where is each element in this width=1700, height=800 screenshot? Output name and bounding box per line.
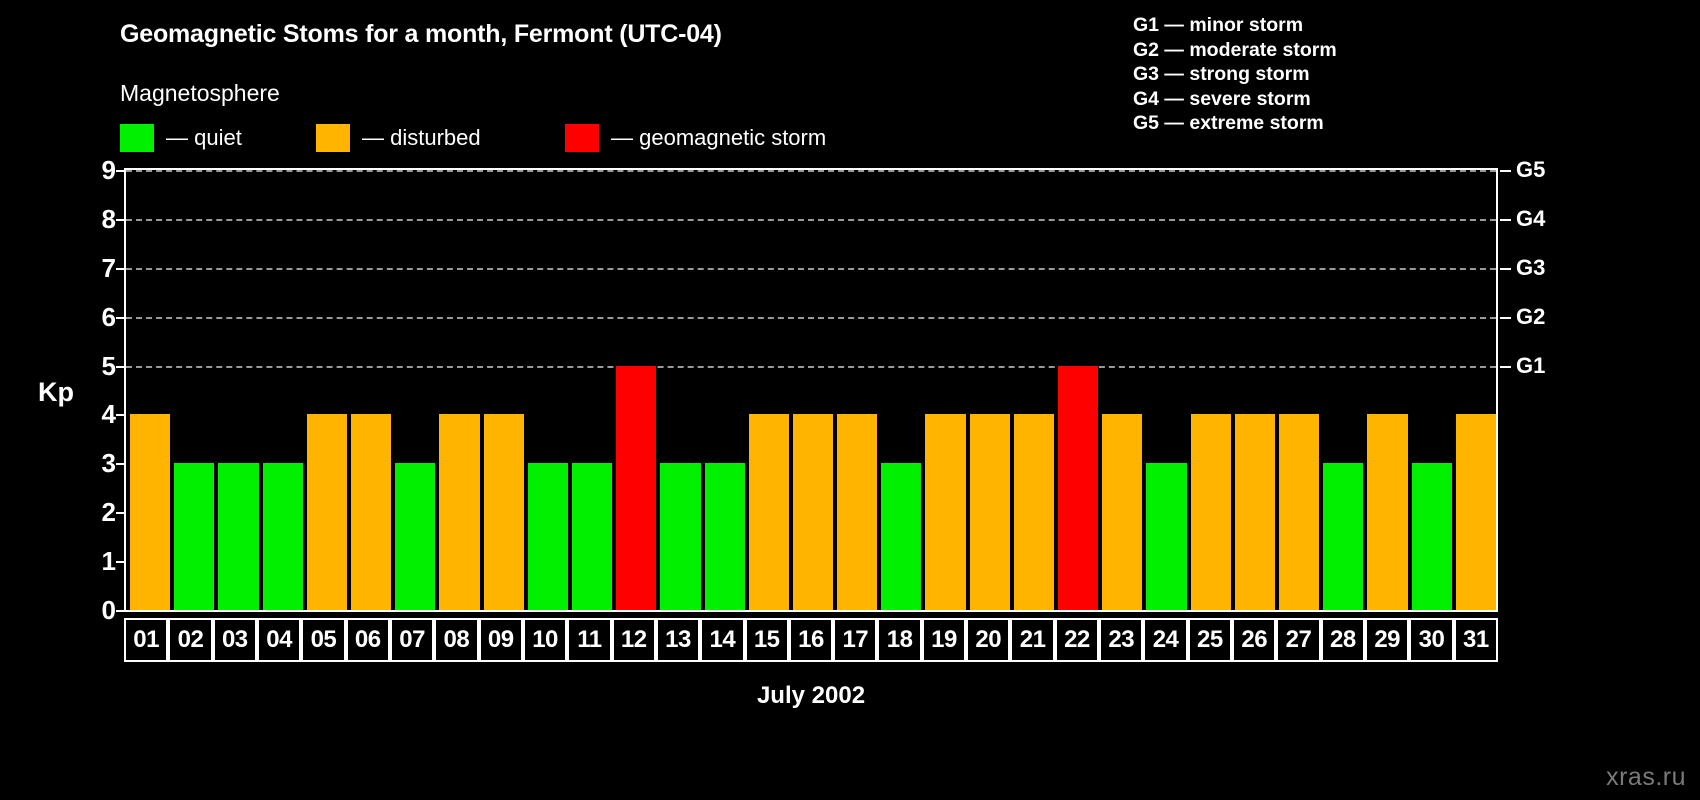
- bar-day-04[interactable]: [263, 463, 303, 610]
- day-label-15[interactable]: 15: [745, 618, 789, 662]
- plot-inner: [126, 170, 1496, 610]
- bar-day-20[interactable]: [970, 414, 1010, 610]
- x-axis-day-labels: 0102030405060708091011121314151617181920…: [124, 618, 1498, 662]
- bar-day-22[interactable]: [1058, 366, 1098, 610]
- bar-slot: [925, 170, 965, 610]
- bar-slot: [1279, 170, 1319, 610]
- day-label-20[interactable]: 20: [966, 618, 1010, 662]
- day-label-29[interactable]: 29: [1365, 618, 1409, 662]
- bar-slot: [1456, 170, 1496, 610]
- bar-slot: [881, 170, 921, 610]
- g-scale-axis: G5G4G3G2G1: [1500, 168, 1610, 612]
- bar-day-02[interactable]: [174, 463, 214, 610]
- day-label-02[interactable]: 02: [168, 618, 212, 662]
- bar-slot: [174, 170, 214, 610]
- y-tick-label: 5: [76, 353, 116, 379]
- bar-slot: [1235, 170, 1275, 610]
- day-label-21[interactable]: 21: [1010, 618, 1054, 662]
- bar-slot: [1102, 170, 1142, 610]
- bar-slot: [660, 170, 700, 610]
- bar-slot: [1014, 170, 1054, 610]
- day-label-08[interactable]: 08: [434, 618, 478, 662]
- bar-slot: [1146, 170, 1186, 610]
- legend-swatch-icon: [120, 124, 154, 152]
- bar-slot: [439, 170, 479, 610]
- day-label-30[interactable]: 30: [1409, 618, 1453, 662]
- page-title: Geomagnetic Stoms for a month, Fermont (…: [120, 20, 722, 49]
- bar-day-19[interactable]: [925, 414, 965, 610]
- y-tick-label: 3: [76, 450, 116, 476]
- bar-day-03[interactable]: [218, 463, 258, 610]
- day-label-31[interactable]: 31: [1454, 618, 1498, 662]
- geomagnetic-storm-chart: Geomagnetic Stoms for a month, Fermont (…: [0, 0, 1700, 800]
- bar-slot: [1323, 170, 1363, 610]
- bar-slot: [572, 170, 612, 610]
- bar-slot: [1058, 170, 1098, 610]
- bar-slot: [351, 170, 391, 610]
- g-tick-label-G1: G1: [1516, 355, 1545, 377]
- bar-day-13[interactable]: [660, 463, 700, 610]
- g-scale-key-line: G2 — moderate storm: [1133, 38, 1337, 63]
- bar-slot: [528, 170, 568, 610]
- bar-day-24[interactable]: [1146, 463, 1186, 610]
- bar-slot: [484, 170, 524, 610]
- g-tick-mark: [1500, 219, 1511, 221]
- bar-slot: [705, 170, 745, 610]
- bar-day-14[interactable]: [705, 463, 745, 610]
- bar-day-31[interactable]: [1456, 414, 1496, 610]
- g-scale-key-line: G4 — severe storm: [1133, 87, 1337, 112]
- bar-day-08[interactable]: [439, 414, 479, 610]
- legend-swatch-icon: [316, 124, 350, 152]
- day-label-01[interactable]: 01: [124, 618, 168, 662]
- g-tick-label-G3: G3: [1516, 257, 1545, 279]
- x-axis-title: July 2002: [124, 682, 1498, 710]
- legend-swatch-icon: [565, 124, 599, 152]
- bar-slot: [1367, 170, 1407, 610]
- day-label-06[interactable]: 06: [346, 618, 390, 662]
- day-label-03[interactable]: 03: [213, 618, 257, 662]
- day-label-07[interactable]: 07: [390, 618, 434, 662]
- bar-day-29[interactable]: [1367, 414, 1407, 610]
- g-tick-mark: [1500, 170, 1511, 172]
- day-label-14[interactable]: 14: [700, 618, 744, 662]
- day-label-25[interactable]: 25: [1188, 618, 1232, 662]
- bar-day-06[interactable]: [351, 414, 391, 610]
- day-label-12[interactable]: 12: [612, 618, 656, 662]
- bar-day-01[interactable]: [130, 414, 170, 610]
- bar-day-26[interactable]: [1235, 414, 1275, 610]
- day-label-04[interactable]: 04: [257, 618, 301, 662]
- bar-day-05[interactable]: [307, 414, 347, 610]
- g-tick-mark: [1500, 366, 1511, 368]
- day-label-22[interactable]: 22: [1055, 618, 1099, 662]
- bar-day-07[interactable]: [395, 463, 435, 610]
- day-label-19[interactable]: 19: [922, 618, 966, 662]
- legend-entry-2: — geomagnetic storm: [565, 124, 826, 152]
- bar-slot: [749, 170, 789, 610]
- y-tick-label: 6: [76, 304, 116, 330]
- bar-slot: [616, 170, 656, 610]
- y-tick-label: 0: [76, 597, 116, 623]
- bar-slot: [1191, 170, 1231, 610]
- day-label-24[interactable]: 24: [1143, 618, 1187, 662]
- legend-label: — disturbed: [362, 125, 481, 151]
- y-tick-label: 1: [76, 548, 116, 574]
- bar-day-10[interactable]: [528, 463, 568, 610]
- bar-slot: [970, 170, 1010, 610]
- y-tick-label: 4: [76, 401, 116, 427]
- legend-entry-1: — disturbed: [316, 124, 481, 152]
- bar-slot: [218, 170, 258, 610]
- bar-day-11[interactable]: [572, 463, 612, 610]
- bar-slot: [307, 170, 347, 610]
- day-label-11[interactable]: 11: [567, 618, 611, 662]
- day-label-28[interactable]: 28: [1321, 618, 1365, 662]
- day-label-26[interactable]: 26: [1232, 618, 1276, 662]
- day-label-13[interactable]: 13: [656, 618, 700, 662]
- g-scale-key-line: G5 — extreme storm: [1133, 111, 1337, 136]
- bar-slot: [130, 170, 170, 610]
- day-label-23[interactable]: 23: [1099, 618, 1143, 662]
- day-label-10[interactable]: 10: [523, 618, 567, 662]
- bar-day-16[interactable]: [793, 414, 833, 610]
- g-scale-key-line: G1 — minor storm: [1133, 13, 1337, 38]
- plot-area: [124, 168, 1498, 612]
- bar-slot: [1412, 170, 1452, 610]
- y-tick-label: 2: [76, 499, 116, 525]
- bar-slot: [793, 170, 833, 610]
- g-tick-mark: [1500, 268, 1511, 270]
- bar-day-12[interactable]: [616, 366, 656, 610]
- y-tick-label: 7: [76, 255, 116, 281]
- legend-label: — quiet: [166, 125, 242, 151]
- legend-heading: Magnetosphere: [120, 80, 280, 107]
- y-tick-label: 9: [76, 157, 116, 183]
- g-tick-label-G4: G4: [1516, 208, 1545, 230]
- legend-entry-0: — quiet: [120, 124, 242, 152]
- legend-label: — geomagnetic storm: [611, 125, 826, 151]
- bar-slot: [395, 170, 435, 610]
- bar-slot: [837, 170, 877, 610]
- bar-day-18[interactable]: [881, 463, 921, 610]
- bar-day-28[interactable]: [1323, 463, 1363, 610]
- bar-day-25[interactable]: [1191, 414, 1231, 610]
- bar-slot: [263, 170, 303, 610]
- bar-day-17[interactable]: [837, 414, 877, 610]
- day-label-09[interactable]: 09: [479, 618, 523, 662]
- bar-day-23[interactable]: [1102, 414, 1142, 610]
- bar-day-21[interactable]: [1014, 414, 1054, 610]
- g-tick-label-G2: G2: [1516, 306, 1545, 328]
- watermark: xras.ru: [1606, 763, 1686, 792]
- g-scale-key: G1 — minor stormG2 — moderate stormG3 — …: [1133, 13, 1337, 136]
- day-label-27[interactable]: 27: [1276, 618, 1320, 662]
- y-tick-label: 8: [76, 206, 116, 232]
- day-label-18[interactable]: 18: [877, 618, 921, 662]
- bars-layer: [128, 170, 1494, 610]
- g-tick-mark: [1500, 317, 1511, 319]
- bar-day-15[interactable]: [749, 414, 789, 610]
- bar-day-09[interactable]: [484, 414, 524, 610]
- bar-day-30[interactable]: [1412, 463, 1452, 610]
- g-tick-label-G5: G5: [1516, 159, 1545, 181]
- day-label-05[interactable]: 05: [301, 618, 345, 662]
- g-scale-key-line: G3 — strong storm: [1133, 62, 1337, 87]
- y-axis-title: Kp: [38, 377, 74, 408]
- day-label-17[interactable]: 17: [833, 618, 877, 662]
- day-label-16[interactable]: 16: [789, 618, 833, 662]
- bar-day-27[interactable]: [1279, 414, 1319, 610]
